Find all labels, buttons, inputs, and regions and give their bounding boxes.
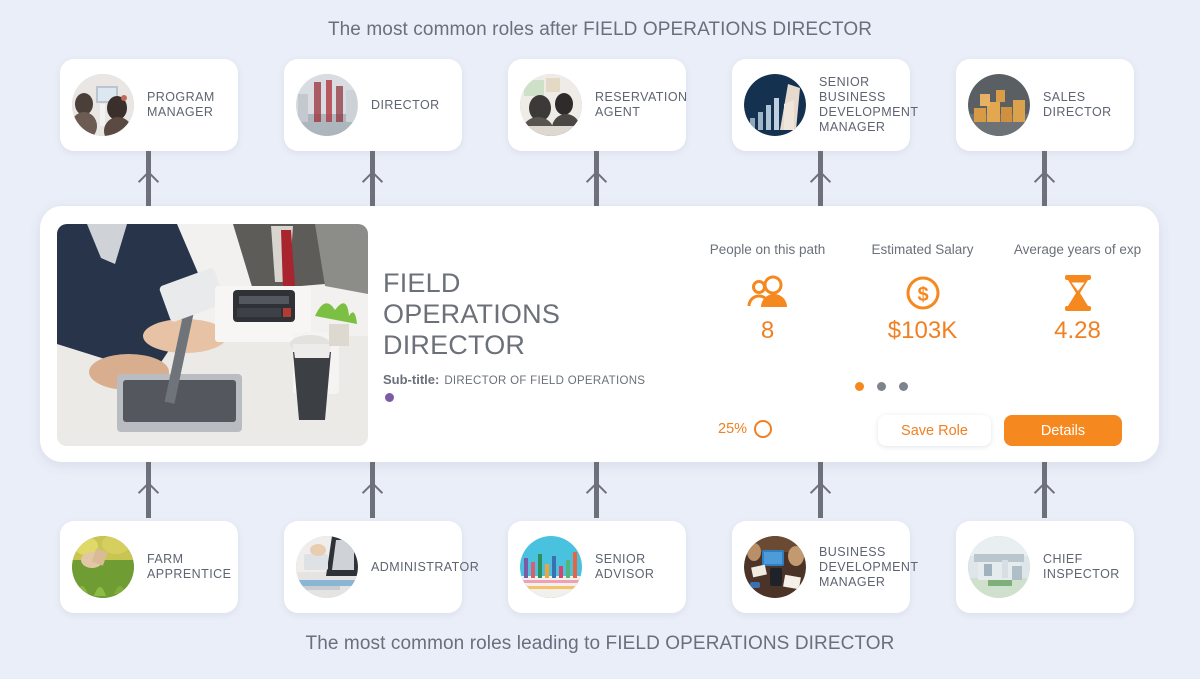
role-card-label: SENIOR ADVISOR xyxy=(582,552,662,582)
hourglass-icon xyxy=(1000,271,1155,315)
role-card-label: SENIOR BUSINESS DEVELOPMENT MANAGER xyxy=(806,75,926,135)
stat-estimated-salary: Estimated Salary $ $103K xyxy=(845,242,1000,345)
bottom-heading: The most common roles leading to FIELD O… xyxy=(0,633,1200,655)
role-card-next-2[interactable]: RESERVATION AGENT xyxy=(508,59,686,151)
role-card-label: CHIEF INSPECTOR xyxy=(1030,552,1128,582)
role-avatar-reservation-agent xyxy=(520,74,582,136)
role-card-label: BUSINESS DEVELOPMENT MANAGER xyxy=(806,545,926,590)
role-avatar-senior-business-development-manager xyxy=(744,74,806,136)
progress-percent: 25% xyxy=(718,421,747,437)
arrowhead-prev-0 xyxy=(138,482,159,503)
current-role-title: FIELD OPERATIONS DIRECTOR xyxy=(383,268,560,361)
details-button[interactable]: Details xyxy=(1004,415,1122,446)
top-heading: The most common roles after FIELD OPERAT… xyxy=(0,19,1200,41)
stat-average-years-exp: Average years of exp 4.28 xyxy=(1000,242,1155,345)
career-path-view: The most common roles after FIELD OPERAT… xyxy=(0,0,1200,679)
arrowhead-prev-2 xyxy=(586,482,607,503)
stat-value: $103K xyxy=(845,317,1000,345)
role-avatar-senior-advisor xyxy=(520,536,582,598)
arrowhead-next-4 xyxy=(1034,171,1055,192)
role-card-prev-2[interactable]: SENIOR ADVISOR xyxy=(508,521,686,613)
role-card-label: ADMINISTRATOR xyxy=(358,560,487,575)
arrowhead-next-3 xyxy=(810,171,831,192)
role-avatar-sales-director xyxy=(968,74,1030,136)
role-card-next-0[interactable]: PROGRAM MANAGER xyxy=(60,59,238,151)
role-avatar-farm-apprentice xyxy=(72,536,134,598)
stat-value: 8 xyxy=(690,317,845,345)
stat-label: Average years of exp xyxy=(1000,242,1155,257)
subtitle-key: Sub-title: xyxy=(383,372,439,387)
arrowhead-prev-4 xyxy=(1034,482,1055,503)
current-role-subtitle: Sub-title: DIRECTOR OF FIELD OPERATIONS xyxy=(383,372,645,387)
stats-row: People on this path 8 Estimated Salary xyxy=(690,242,1155,345)
carousel-dot-1[interactable] xyxy=(877,382,886,391)
arrowhead-next-1 xyxy=(362,171,383,192)
dollar-circle-icon: $ xyxy=(845,271,1000,315)
subtitle-value: DIRECTOR OF FIELD OPERATIONS xyxy=(444,375,645,387)
role-card-label: FARM APPRENTICE xyxy=(134,552,239,582)
stat-label: People on this path xyxy=(690,242,845,257)
arrowhead-prev-1 xyxy=(362,482,383,503)
role-card-prev-4[interactable]: CHIEF INSPECTOR xyxy=(956,521,1134,613)
stat-value: 4.28 xyxy=(1000,317,1155,345)
arrowhead-next-2 xyxy=(586,171,607,192)
stat-people-on-path: People on this path 8 xyxy=(690,242,845,345)
role-avatar-administrator xyxy=(296,536,358,598)
carousel-dots[interactable] xyxy=(855,382,908,391)
role-card-prev-1[interactable]: ADMINISTRATOR xyxy=(284,521,462,613)
match-progress: 25% xyxy=(718,420,772,438)
arrowhead-next-0 xyxy=(138,171,159,192)
current-role-photo xyxy=(57,224,368,446)
role-card-label: PROGRAM MANAGER xyxy=(134,90,223,120)
current-role-card[interactable]: FIELD OPERATIONS DIRECTOR Sub-title: DIR… xyxy=(40,206,1159,462)
save-role-button[interactable]: Save Role xyxy=(878,415,991,446)
arrowhead-prev-3 xyxy=(810,482,831,503)
role-card-prev-0[interactable]: FARM APPRENTICE xyxy=(60,521,238,613)
people-icon xyxy=(690,271,845,315)
role-card-next-1[interactable]: DIRECTOR xyxy=(284,59,462,151)
role-card-prev-3[interactable]: BUSINESS DEVELOPMENT MANAGER xyxy=(732,521,910,613)
carousel-dot-0[interactable] xyxy=(855,382,864,391)
progress-ring-icon xyxy=(754,420,772,438)
subtitle-bullet-dot xyxy=(385,393,394,402)
role-card-label: RESERVATION AGENT xyxy=(582,90,695,120)
role-avatar-chief-inspector xyxy=(968,536,1030,598)
role-card-next-3[interactable]: SENIOR BUSINESS DEVELOPMENT MANAGER xyxy=(732,59,910,151)
role-card-label: SALES DIRECTOR xyxy=(1030,90,1120,120)
carousel-dot-2[interactable] xyxy=(899,382,908,391)
role-card-label: DIRECTOR xyxy=(358,98,448,113)
role-card-next-4[interactable]: SALES DIRECTOR xyxy=(956,59,1134,151)
svg-text:$: $ xyxy=(917,284,928,306)
role-avatar-business-development-manager xyxy=(744,536,806,598)
role-avatar-director xyxy=(296,74,358,136)
stat-label: Estimated Salary xyxy=(845,242,1000,257)
role-avatar-program-manager xyxy=(72,74,134,136)
